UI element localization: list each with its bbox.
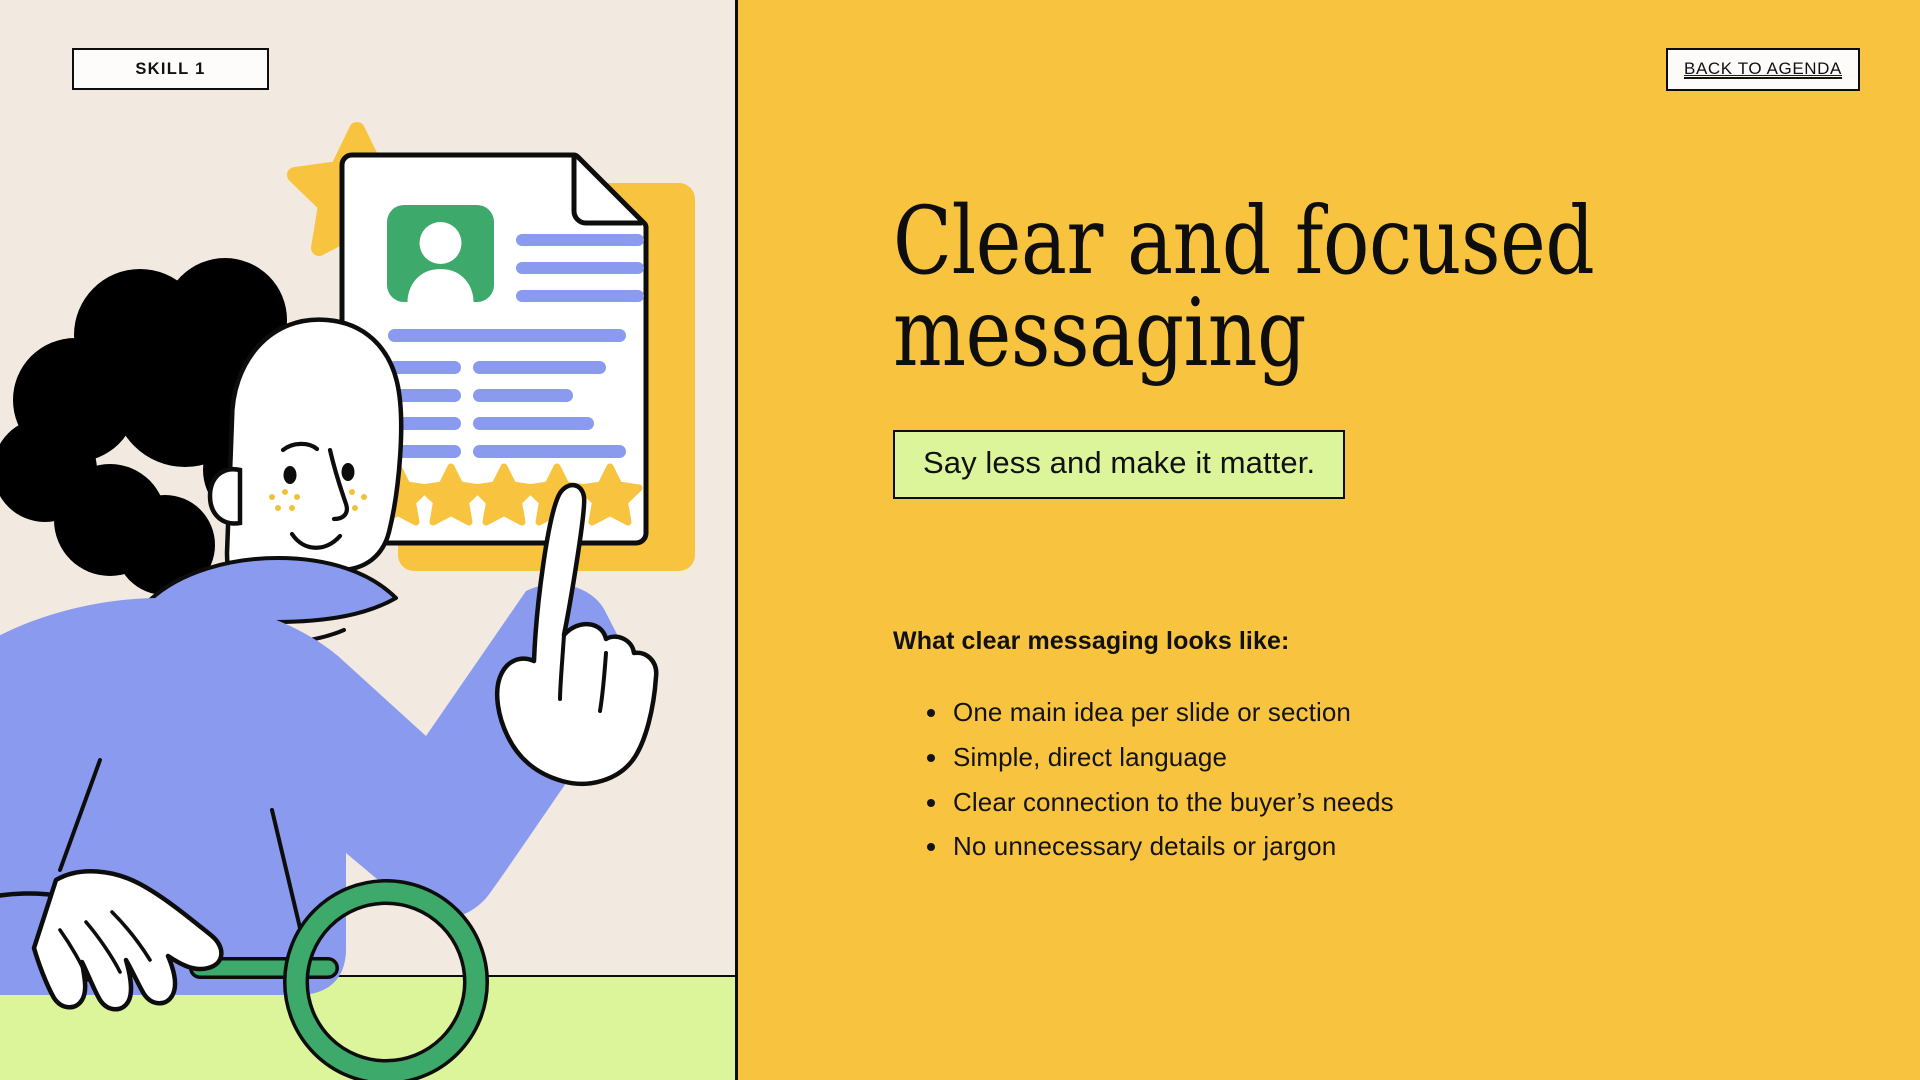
subtitle-text: Say less and make it matter. xyxy=(923,445,1315,480)
back-to-agenda-button[interactable]: BACK TO AGENDA xyxy=(1666,48,1860,91)
skill-badge-label: SKILL 1 xyxy=(135,60,205,79)
list-item: No unnecessary details or jargon xyxy=(953,824,1913,869)
illustration-artwork xyxy=(0,0,735,1080)
subtitle-highlight-box: Say less and make it matter. xyxy=(893,430,1345,499)
slide-root: SKILL 1 BACK TO AGENDA Clear and focused… xyxy=(0,0,1920,1080)
document-header-lines xyxy=(516,234,644,302)
list-item: Simple, direct language xyxy=(953,735,1913,780)
left-illustration-panel: SKILL 1 xyxy=(0,0,735,1080)
right-content-panel: BACK TO AGENDA Clear and focused messagi… xyxy=(735,0,1920,1080)
bullet-list: One main idea per slide or section Simpl… xyxy=(893,690,1913,869)
skill-badge: SKILL 1 xyxy=(72,48,269,90)
back-to-agenda-label: BACK TO AGENDA xyxy=(1684,59,1842,78)
content-column: Clear and focused messaging Say less and… xyxy=(893,0,1913,869)
section-heading: What clear messaging looks like: xyxy=(893,627,1913,656)
page-title: Clear and focused messaging xyxy=(893,196,1918,380)
list-item: One main idea per slide or section xyxy=(953,690,1913,735)
person-avatar-icon xyxy=(387,205,494,302)
list-item: Clear connection to the buyer’s needs xyxy=(953,780,1913,825)
